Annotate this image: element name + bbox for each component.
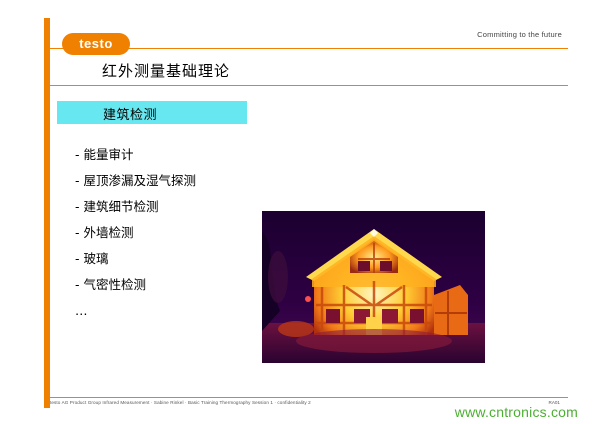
watermark: www.cntronics.com — [455, 404, 578, 420]
footer-note: testo AG Product Group Infrared Measurem… — [50, 400, 311, 405]
bullet-list: - 能量审计 - 屋顶渗漏及湿气探测 - 建筑细节检测 - 外墙检测 - 玻璃 … — [75, 142, 275, 324]
subtitle-label: 建筑检测 — [103, 104, 157, 123]
list-item: - 建筑细节检测 — [75, 194, 275, 220]
list-item: - 屋顶渗漏及湿气探测 — [75, 168, 275, 194]
slide-canvas: testo Committing to the future 红外测量基础理论 … — [0, 0, 600, 424]
header-divider — [44, 48, 568, 49]
page-title: 红外测量基础理论 — [102, 60, 230, 81]
list-item: - 能量审计 — [75, 142, 275, 168]
list-item: - 玻璃 — [75, 246, 275, 272]
list-item: - 气密性检测 — [75, 272, 275, 298]
brand-tagline: Committing to the future — [477, 30, 562, 39]
thermal-building-image — [262, 211, 485, 363]
testo-logo: testo — [62, 33, 130, 55]
list-item: … — [75, 298, 275, 324]
list-item: - 外墙检测 — [75, 220, 275, 246]
footer-divider — [44, 397, 568, 398]
